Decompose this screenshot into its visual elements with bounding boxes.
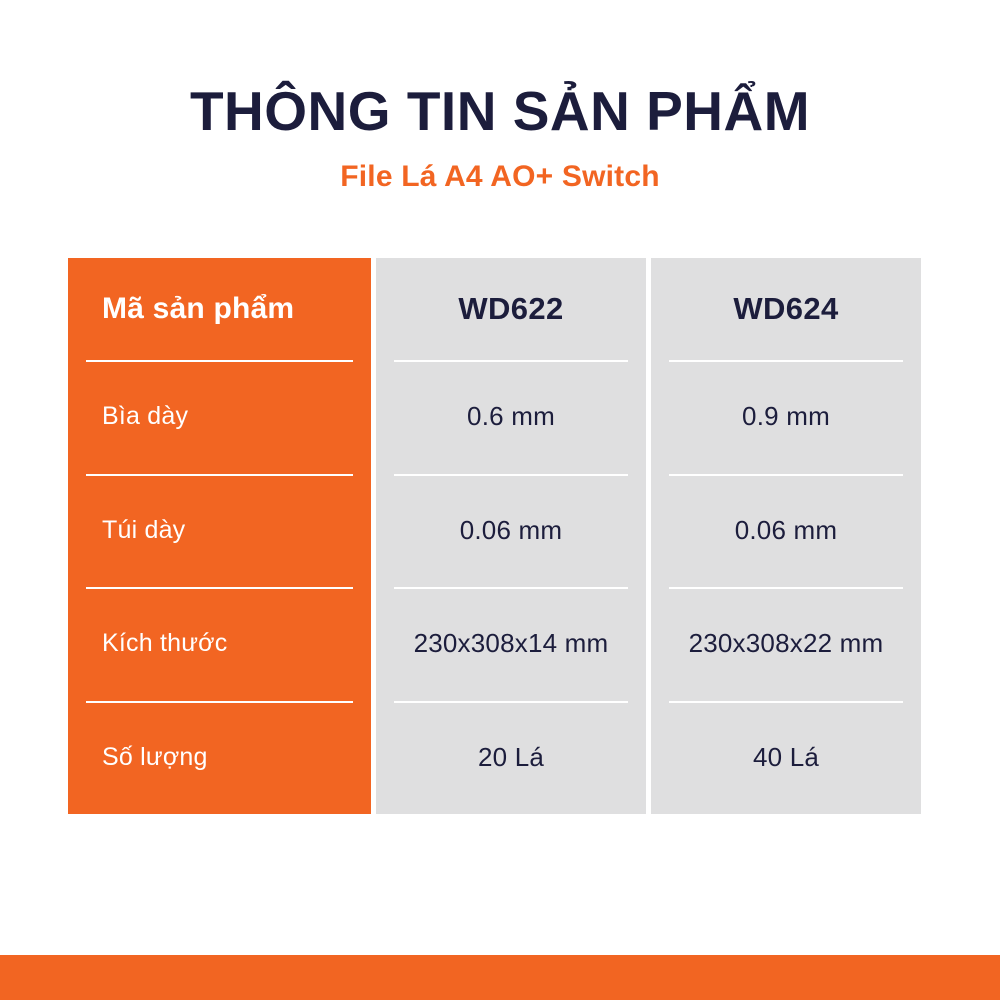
spec-label-row: Bìa dày (68, 360, 371, 474)
spec-value: 230x308x22 mm (689, 628, 884, 659)
page-subtitle: File Lá A4 AO+ Switch (0, 141, 1000, 193)
spec-label-header-cell: Mã sản phẩm (68, 258, 371, 360)
page-header: THÔNG TIN SẢN PHẨM File Lá A4 AO+ Switch (0, 0, 1000, 193)
spec-value-cell: 230x308x14 mm (376, 587, 646, 701)
spec-value-cell: 0.9 mm (651, 360, 921, 474)
row-label: Túi dày (102, 516, 185, 545)
product-code: WD624 (733, 291, 838, 327)
spec-value: 40 Lá (753, 742, 819, 773)
label-column-header: Mã sản phẩm (102, 292, 294, 326)
spec-product-header-cell: WD622 (376, 258, 646, 360)
spec-product-header-cell: WD624 (651, 258, 921, 360)
spec-value: 20 Lá (478, 742, 544, 773)
row-label: Số lượng (102, 743, 208, 772)
row-label: Kích thước (102, 629, 227, 658)
spec-value: 0.6 mm (467, 401, 555, 432)
spec-value: 0.06 mm (735, 515, 838, 546)
page-title: THÔNG TIN SẢN PHẨM (0, 0, 1000, 141)
product-spec-table: Mã sản phẩm Bìa dày Túi dày Kích thước S… (68, 258, 926, 814)
row-label: Bìa dày (102, 402, 188, 431)
spec-value-cell: 0.06 mm (651, 474, 921, 588)
spec-value: 0.06 mm (460, 515, 563, 546)
product-code: WD622 (458, 291, 563, 327)
spec-product-column-wd624: WD624 0.9 mm 0.06 mm 230x308x22 mm 40 Lá (651, 258, 921, 814)
spec-value-cell: 0.6 mm (376, 360, 646, 474)
spec-value: 0.9 mm (742, 401, 830, 432)
spec-value-cell: 0.06 mm (376, 474, 646, 588)
spec-label-column: Mã sản phẩm Bìa dày Túi dày Kích thước S… (68, 258, 371, 814)
spec-label-row: Số lượng (68, 701, 371, 815)
spec-product-column-wd622: WD622 0.6 mm 0.06 mm 230x308x14 mm 20 Lá (376, 258, 646, 814)
spec-value-cell: 230x308x22 mm (651, 587, 921, 701)
spec-value-cell: 20 Lá (376, 701, 646, 815)
spec-value-cell: 40 Lá (651, 701, 921, 815)
spec-label-row: Túi dày (68, 474, 371, 588)
footer-accent-bar (0, 955, 1000, 1000)
spec-label-row: Kích thước (68, 587, 371, 701)
spec-value: 230x308x14 mm (414, 628, 609, 659)
